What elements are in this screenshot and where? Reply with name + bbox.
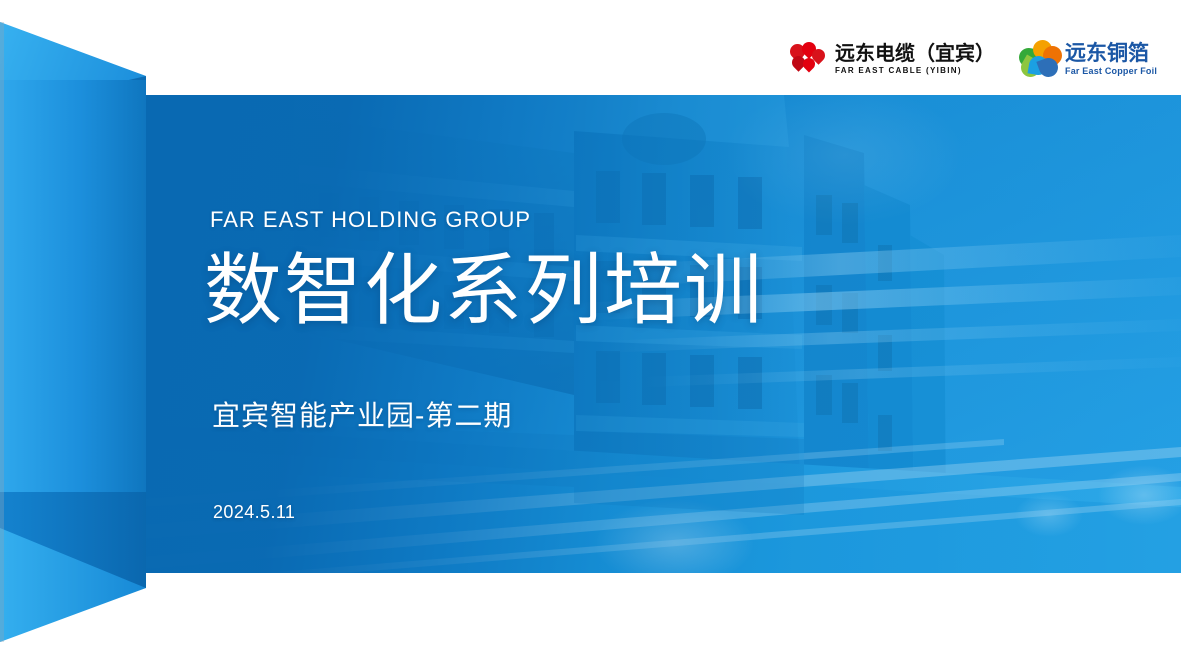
red-cluster-icon [790, 42, 828, 76]
logo-cable-wordmark: 远东电缆（宜宾） FAR EAST CABLE (YIBIN) [835, 44, 995, 75]
logo-far-east-cable: 远东电缆（宜宾） FAR EAST CABLE (YIBIN) [790, 42, 995, 76]
banner-eyebrow: FAR EAST HOLDING GROUP [210, 207, 531, 233]
logo-bar: 远东电缆（宜宾） FAR EAST CABLE (YIBIN) 远东铜箔 Far… [790, 30, 1170, 88]
logo-foil-english: Far East Copper Foil [1065, 67, 1157, 76]
logo-foil-chinese: 远东铜箔 [1065, 43, 1157, 64]
logo-cable-chinese: 远东电缆（宜宾） [835, 44, 995, 64]
hero-banner: FAR EAST HOLDING GROUP 数智化系列培训 宜宾智能产业园-第… [144, 95, 1181, 573]
logo-cable-english: FAR EAST CABLE (YIBIN) [835, 67, 995, 75]
folded-ribbon-decoration [0, 22, 146, 642]
banner-subtitle: 宜宾智能产业园-第二期 [212, 394, 512, 434]
logo-foil-wordmark: 远东铜箔 Far East Copper Foil [1065, 43, 1157, 76]
pinwheel-icon [1019, 40, 1059, 78]
presentation-slide: FAR EAST HOLDING GROUP 数智化系列培训 宜宾智能产业园-第… [0, 0, 1181, 665]
logo-far-east-copper-foil: 远东铜箔 Far East Copper Foil [1019, 40, 1157, 78]
banner-date: 2024.5.11 [213, 502, 295, 523]
banner-text-block: FAR EAST HOLDING GROUP 数智化系列培训 宜宾智能产业园-第… [210, 95, 1010, 573]
page-title: 数智化系列培训 [204, 247, 764, 334]
